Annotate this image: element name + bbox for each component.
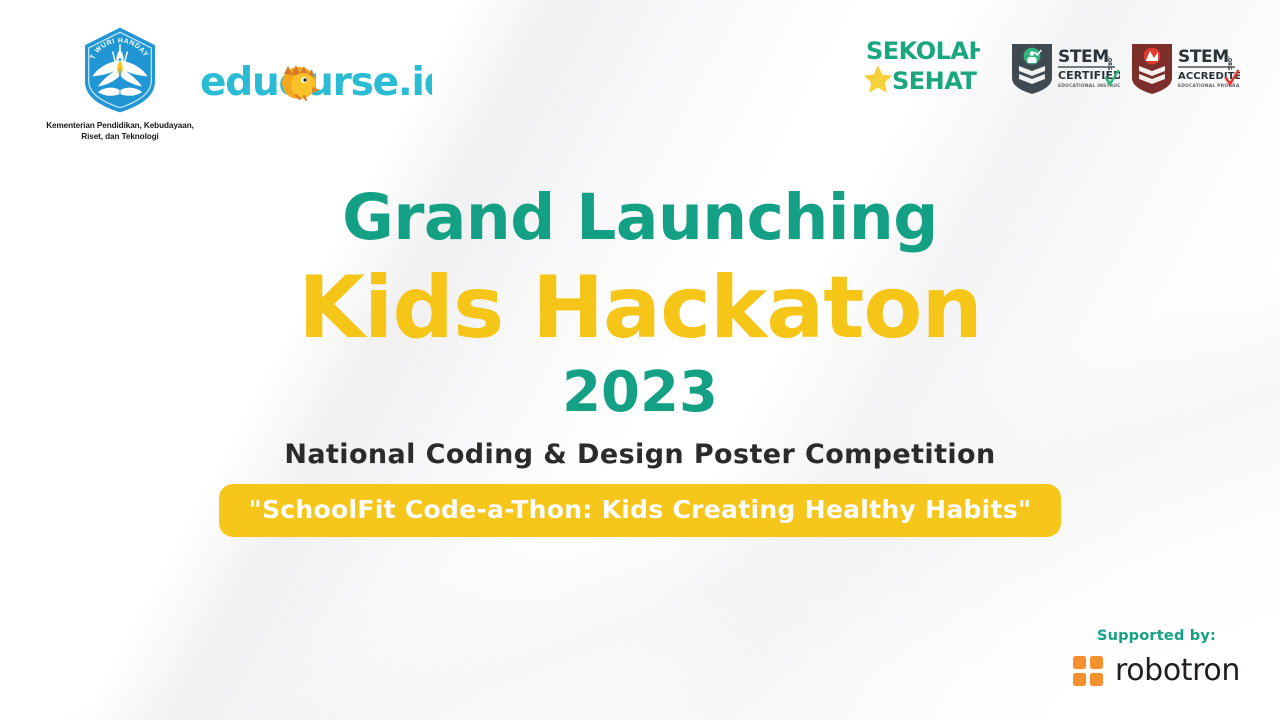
star-icon (864, 65, 892, 93)
event-subtitle: National Coding & Design Poster Competit… (0, 441, 1280, 468)
educourse-logo-block[interactable]: educ urse.id (200, 55, 432, 116)
robotron-logo[interactable]: robotron (1073, 653, 1240, 688)
stem-certified-badge-icon: STEM .ORG CERTIFIED EDUCATIONAL INSTRUCT… (1008, 40, 1120, 96)
sekolah-sehat-logo-block: SEKOLAH SEHAT (860, 33, 980, 104)
event-name-title: Kids Hackaton (0, 265, 1280, 351)
svg-text:.ORG: .ORG (1106, 56, 1112, 70)
theme-banner-wrap: "SchoolFit Code-a-Thon: Kids Creating He… (0, 484, 1280, 537)
event-theme-banner: "SchoolFit Code-a-Thon: Kids Creating He… (219, 484, 1062, 537)
educourse-logo-icon: educ urse.id (200, 55, 432, 111)
supported-by-label: Supported by: (1073, 628, 1240, 644)
kemendikbud-caption-line1: Kementerian Pendidikan, Kebudayaan, (34, 120, 206, 131)
svg-text:urse.id: urse.id (306, 60, 432, 105)
sekolah-sehat-logo-icon: SEKOLAH SEHAT (860, 33, 980, 99)
robotron-square-2 (1090, 656, 1103, 669)
event-year: 2023 (0, 365, 1280, 421)
svg-text:SEHAT: SEHAT (892, 67, 977, 95)
svg-text:STEM: STEM (1178, 47, 1229, 67)
robotron-square-3 (1073, 673, 1086, 686)
stem-accredited-badge-icon: STEM .ORG ACCREDITED EDUCATIONAL PROGRAM (1128, 40, 1240, 96)
svg-text:STEM: STEM (1058, 47, 1109, 67)
poster-canvas: TUT WURI HANDAYANI Kementerian Pendid (0, 0, 1280, 720)
grand-launching-title: Grand Launching (0, 186, 1280, 249)
robotron-wordmark: robotron (1115, 653, 1240, 688)
supported-by-block: Supported by: robotron (1073, 628, 1240, 688)
kemendikbud-logo-mark: TUT WURI HANDAYANI (34, 24, 206, 116)
kemendikbud-logo-block: TUT WURI HANDAYANI Kementerian Pendid (34, 24, 206, 142)
robotron-squares-icon (1073, 656, 1103, 686)
tut-wuri-handayani-icon: TUT WURI HANDAYANI (74, 24, 166, 116)
kemendikbud-caption: Kementerian Pendidikan, Kebudayaan, Rise… (34, 120, 206, 142)
stem-certified-badge-block: STEM .ORG CERTIFIED EDUCATIONAL INSTRUCT… (1008, 40, 1120, 101)
header-logo-bar: TUT WURI HANDAYANI Kementerian Pendid (0, 0, 1280, 160)
kemendikbud-caption-line2: Riset, dan Teknologi (34, 131, 206, 142)
svg-text:.ORG: .ORG (1226, 56, 1232, 70)
svg-text:ACCREDITED: ACCREDITED (1178, 71, 1240, 82)
main-content: Grand Launching Kids Hackaton 2023 Natio… (0, 186, 1280, 537)
svg-text:SEKOLAH: SEKOLAH (866, 37, 980, 65)
robotron-square-1 (1073, 656, 1086, 669)
robotron-square-4 (1090, 673, 1103, 686)
stem-accredited-badge-block: STEM .ORG ACCREDITED EDUCATIONAL PROGRAM (1128, 40, 1240, 101)
svg-text:CERTIFIED: CERTIFIED (1058, 69, 1120, 82)
